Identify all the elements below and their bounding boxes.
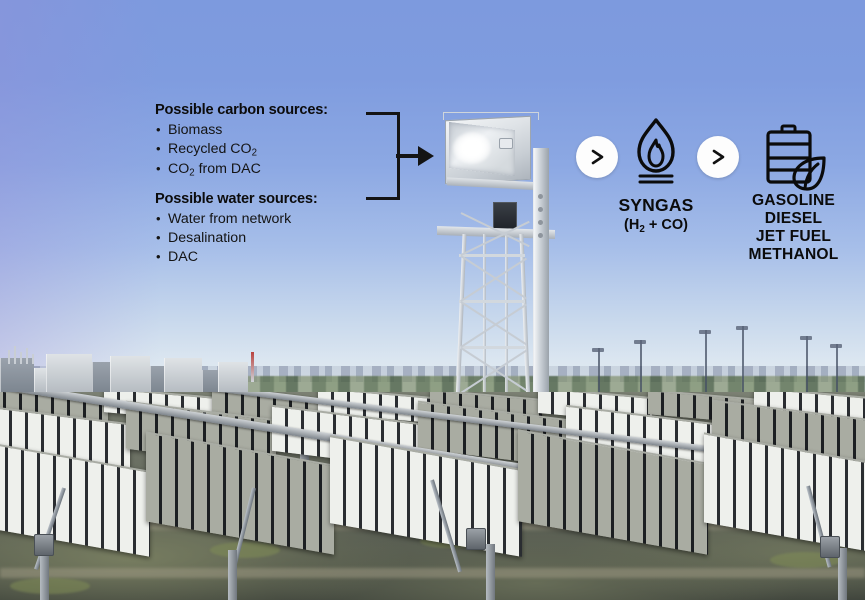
source-lists: Possible carbon sources: Biomass Recycle… (155, 103, 370, 267)
concentrated-light-hotspot (453, 132, 491, 164)
sky-left-tint (0, 0, 160, 392)
heliostat-field (0, 392, 865, 600)
solar-fuel-diagram: Possible carbon sources: Biomass Recycle… (0, 0, 865, 600)
list-item: Biomass (155, 121, 370, 140)
fuel-barrel-leaf-icon (722, 118, 865, 192)
fuel-line: DIESEL (722, 210, 865, 228)
syngas-label: SYNGAS (596, 195, 716, 216)
list-item: Desalination (155, 229, 370, 248)
fuel-line: JET FUEL (722, 228, 865, 246)
syngas-product: SYNGAS (H2 + CO) (596, 116, 716, 235)
water-sources-list: Water from network Desalination DAC (155, 210, 370, 267)
fuel-line: GASOLINE (722, 192, 865, 210)
list-item: CO2 from DAC (155, 160, 370, 181)
solar-power-tower (437, 104, 563, 404)
carbon-sources-heading: Possible carbon sources: (155, 103, 370, 118)
fuel-line: METHANOL (722, 246, 865, 264)
receiver-port (499, 138, 513, 149)
list-item: Water from network (155, 210, 370, 229)
distant-chimney (251, 352, 254, 382)
syngas-formula: (H2 + CO) (596, 217, 716, 235)
list-item: Recycled CO2 (155, 140, 370, 161)
carbon-sources-list: Biomass Recycled CO2 CO2 from DAC (155, 121, 370, 181)
fuel-products: GASOLINE DIESEL JET FUEL METHANOL (722, 118, 865, 264)
list-item: DAC (155, 248, 370, 267)
fuel-product-list: GASOLINE DIESEL JET FUEL METHANOL (722, 192, 865, 264)
industrial-plant-buildings (0, 348, 300, 392)
water-sources-heading: Possible water sources: (155, 192, 370, 207)
sources-bracket (366, 112, 400, 200)
arrow-head-icon (418, 146, 434, 166)
tower-mast (533, 148, 549, 404)
mast-fixtures (538, 194, 544, 248)
